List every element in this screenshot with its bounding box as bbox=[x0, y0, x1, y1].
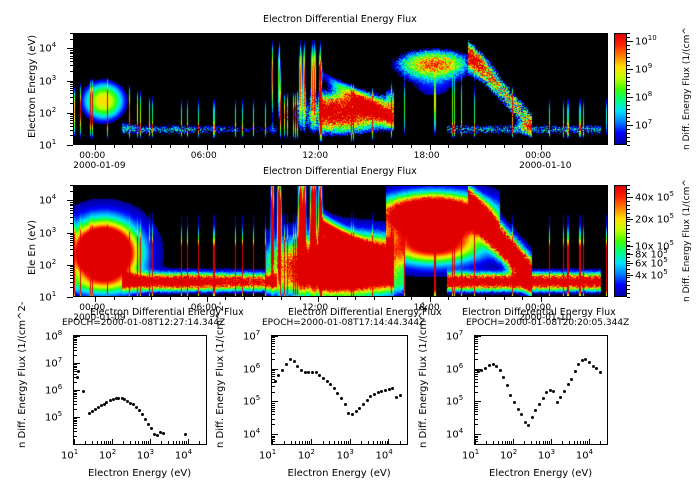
spectrum-ylabel: n Diff. Energy Flux (1/(cm^2- bbox=[419, 301, 429, 448]
xtick-major bbox=[112, 439, 113, 445]
ytick-minor bbox=[272, 341, 275, 342]
xtick-label: 00:00 bbox=[525, 152, 551, 161]
data-point bbox=[355, 410, 358, 413]
colorbar-tick-minor bbox=[627, 249, 630, 250]
spectrum-epoch: EPOCH=2000-01-08T12:27:14.344Z bbox=[62, 319, 225, 328]
ytick-minor bbox=[70, 185, 73, 186]
ytick-minor bbox=[475, 409, 478, 410]
ytick-minor bbox=[70, 278, 73, 279]
xtick-major bbox=[150, 439, 151, 445]
ytick-minor bbox=[272, 372, 275, 373]
xtick-major bbox=[513, 439, 514, 445]
data-point bbox=[285, 363, 288, 366]
colorbar-tick-label: 109 bbox=[635, 63, 652, 75]
data-point bbox=[599, 371, 602, 374]
xtick-minor bbox=[411, 297, 412, 300]
colorbar-tick-minor bbox=[627, 269, 630, 270]
colorbar-tick-label: 40x 105 bbox=[635, 191, 674, 203]
ytick-minor bbox=[70, 223, 73, 224]
data-point bbox=[484, 367, 487, 370]
ytick-minor bbox=[475, 414, 478, 415]
ytick-minor bbox=[70, 202, 73, 203]
panel-top-spectrogram[interactable] bbox=[73, 33, 608, 145]
colorbar-tick-minor bbox=[627, 273, 630, 274]
data-point bbox=[577, 363, 580, 366]
xaxis-date-right: 2000-01-10 bbox=[519, 162, 571, 171]
ytick-minor bbox=[74, 364, 77, 365]
data-point bbox=[318, 374, 321, 377]
ytick-label: 102 bbox=[39, 259, 56, 271]
colorbar-tick-minor bbox=[627, 53, 630, 54]
data-point bbox=[534, 409, 537, 412]
spectrum-2-plot[interactable] bbox=[271, 335, 408, 445]
panel-middle-title: Electron Differential Energy Flux bbox=[263, 167, 417, 177]
panel-middle-spectrogram[interactable] bbox=[73, 185, 608, 297]
colorbar-tick-minor bbox=[627, 189, 630, 190]
colorbar-tick-minor bbox=[627, 281, 630, 282]
xtick-minor bbox=[97, 441, 98, 445]
ytick-minor bbox=[74, 374, 77, 375]
xtick-minor bbox=[583, 441, 584, 445]
ytick-label: 104 bbox=[39, 194, 56, 206]
panel-middle-colorbar-label: n Diff. Energy Flux (1/(cm^ bbox=[683, 179, 692, 302]
xtick-minor bbox=[281, 297, 282, 300]
colorbar-tick-minor bbox=[627, 65, 630, 66]
ytick-minor bbox=[70, 58, 73, 59]
xtick-label: 104 bbox=[175, 449, 192, 461]
ytick-label: 106 bbox=[446, 363, 463, 375]
ytick-minor bbox=[70, 123, 73, 124]
ytick-minor bbox=[272, 411, 275, 412]
xtick-minor bbox=[291, 441, 292, 445]
xtick-minor bbox=[338, 441, 339, 445]
ytick-minor bbox=[475, 379, 478, 380]
spectrum-xlabel: Electron Energy (eV) bbox=[288, 469, 391, 479]
ytick-label: 101 bbox=[39, 291, 56, 303]
ytick-minor bbox=[70, 282, 73, 283]
ytick-minor bbox=[70, 71, 73, 72]
spectrum-epoch: EPOCH=2000-01-08T20:20:05.344Z bbox=[466, 319, 629, 328]
colorbar-tick-minor bbox=[627, 221, 630, 222]
ytick-minor bbox=[70, 210, 73, 211]
ytick-minor bbox=[70, 130, 73, 131]
ytick-minor bbox=[74, 398, 77, 399]
colorbar-tick-minor bbox=[627, 225, 630, 226]
ytick-label: 103 bbox=[39, 227, 56, 239]
xtick-minor bbox=[262, 297, 263, 300]
xtick-minor bbox=[585, 441, 586, 445]
ytick-minor bbox=[74, 340, 77, 341]
ytick-label: 101 bbox=[39, 139, 56, 151]
xtick-major bbox=[272, 439, 273, 445]
data-point bbox=[380, 390, 383, 393]
xtick-minor bbox=[448, 145, 449, 148]
data-point bbox=[556, 401, 559, 404]
data-point bbox=[499, 369, 502, 372]
spectrum-1-plot[interactable] bbox=[73, 335, 207, 445]
data-point bbox=[527, 424, 530, 427]
xtick-minor bbox=[262, 145, 263, 148]
xtick-minor bbox=[179, 441, 180, 445]
panel-middle-ylabel: Ele En (eV) bbox=[28, 220, 38, 275]
xtick-minor bbox=[114, 145, 115, 148]
ytick-minor bbox=[272, 405, 275, 406]
data-point bbox=[399, 394, 402, 397]
ytick-minor bbox=[70, 126, 73, 127]
ytick-minor bbox=[475, 376, 478, 377]
data-point bbox=[311, 371, 314, 374]
colorbar-tick-minor bbox=[627, 117, 630, 118]
colorbar-tick bbox=[627, 263, 633, 264]
ytick-minor bbox=[272, 424, 275, 425]
data-point bbox=[358, 407, 361, 410]
ytick-minor bbox=[475, 424, 478, 425]
data-point bbox=[296, 365, 299, 368]
xtick-minor bbox=[186, 441, 187, 445]
xtick-minor bbox=[148, 441, 149, 445]
xtick-label: 103 bbox=[337, 449, 354, 461]
colorbar-tick-minor bbox=[627, 185, 630, 186]
xtick-minor bbox=[355, 297, 356, 300]
colorbar-tick-minor bbox=[627, 137, 630, 138]
xtick-minor bbox=[300, 145, 301, 148]
ytick-minor bbox=[475, 337, 478, 338]
xtick-minor bbox=[536, 441, 537, 445]
ytick-label: 104 bbox=[243, 428, 260, 440]
data-point bbox=[336, 392, 339, 395]
data-point bbox=[105, 401, 108, 404]
ytick-minor bbox=[70, 118, 73, 119]
ytick-minor bbox=[70, 266, 73, 267]
xtick-minor bbox=[323, 441, 324, 445]
colorbar-tick-minor bbox=[627, 277, 630, 278]
xtick-minor bbox=[135, 441, 136, 445]
colorbar-tick-minor bbox=[627, 97, 630, 98]
ytick-minor bbox=[272, 353, 275, 354]
xtick-minor bbox=[161, 441, 162, 445]
xtick-major bbox=[188, 439, 189, 445]
ytick-minor bbox=[70, 135, 73, 136]
data-point bbox=[91, 410, 94, 413]
colorbar-tick-minor bbox=[627, 241, 630, 242]
data-point bbox=[542, 397, 545, 400]
data-point bbox=[329, 383, 332, 386]
data-point bbox=[94, 408, 97, 411]
xtick-major bbox=[74, 439, 75, 445]
ytick-minor bbox=[74, 393, 77, 394]
ytick-major bbox=[67, 297, 73, 298]
xtick-minor bbox=[373, 441, 374, 445]
xtick-minor bbox=[305, 441, 306, 445]
data-point bbox=[135, 406, 138, 409]
colorbar-tick-minor bbox=[627, 113, 630, 114]
xtick-minor bbox=[132, 145, 133, 148]
xtick-minor bbox=[307, 441, 308, 445]
xtick-minor bbox=[502, 441, 503, 445]
xtick-minor bbox=[225, 297, 226, 300]
xtick-minor bbox=[607, 441, 608, 445]
data-point bbox=[362, 403, 365, 406]
colorbar-tick-minor bbox=[627, 145, 630, 146]
colorbar-tick-label: 108 bbox=[635, 91, 652, 103]
ytick-minor bbox=[475, 339, 478, 340]
xtick-minor bbox=[108, 441, 109, 445]
ytick-minor bbox=[74, 420, 77, 421]
xtick-minor bbox=[344, 441, 345, 445]
xtick-minor bbox=[562, 441, 563, 445]
spectrum-title: Electron Differential Energy Flux bbox=[462, 308, 616, 318]
xtick-minor bbox=[509, 441, 510, 445]
ytick-minor bbox=[475, 407, 478, 408]
data-point bbox=[138, 409, 141, 412]
xtick-minor bbox=[448, 297, 449, 300]
xtick-minor bbox=[168, 441, 169, 445]
xtick-minor bbox=[123, 441, 124, 445]
colorbar-tick-minor bbox=[627, 93, 630, 94]
spectrum-xlabel: Electron Energy (eV) bbox=[88, 469, 191, 479]
xtick-minor bbox=[151, 297, 152, 300]
data-point bbox=[549, 389, 552, 392]
xtick-minor bbox=[144, 441, 145, 445]
xtick-minor bbox=[337, 297, 338, 300]
ytick-minor bbox=[70, 61, 73, 62]
panel-top-colorbar-label: n Diff. Energy Flux (1/(cm^ bbox=[683, 27, 692, 150]
xtick-minor bbox=[531, 441, 532, 445]
ytick-minor bbox=[272, 407, 275, 408]
data-point bbox=[570, 378, 573, 381]
data-point bbox=[88, 412, 91, 415]
data-point bbox=[307, 371, 310, 374]
xtick-minor bbox=[207, 145, 208, 148]
colorbar-tick-minor bbox=[627, 265, 630, 266]
ytick-minor bbox=[272, 343, 275, 344]
xtick-minor bbox=[281, 145, 282, 148]
ytick-minor bbox=[70, 272, 73, 273]
ytick-minor bbox=[70, 56, 73, 57]
colorbar-tick-minor bbox=[627, 121, 630, 122]
data-point bbox=[281, 369, 284, 372]
data-point bbox=[369, 395, 372, 398]
xtick-minor bbox=[387, 441, 388, 445]
ytick-minor bbox=[74, 391, 77, 392]
xtick-minor bbox=[493, 441, 494, 445]
data-point bbox=[144, 418, 147, 421]
xtick-minor bbox=[430, 145, 431, 148]
xtick-minor bbox=[382, 441, 383, 445]
ytick-minor bbox=[475, 349, 478, 350]
data-point bbox=[567, 383, 570, 386]
xtick-major bbox=[551, 439, 552, 445]
xtick-minor bbox=[407, 441, 408, 445]
ytick-minor bbox=[272, 339, 275, 340]
ytick-minor bbox=[272, 386, 275, 387]
xtick-minor bbox=[146, 441, 147, 445]
data-point bbox=[289, 358, 292, 361]
xtick-minor bbox=[188, 297, 189, 300]
xtick-minor bbox=[374, 297, 375, 300]
ytick-minor bbox=[74, 421, 77, 422]
xtick-minor bbox=[361, 441, 362, 445]
ytick-minor bbox=[70, 217, 73, 218]
xtick-minor bbox=[142, 441, 143, 445]
xtick-minor bbox=[130, 441, 131, 445]
xtick-minor bbox=[284, 441, 285, 445]
ytick-minor bbox=[74, 366, 77, 367]
colorbar-tick-minor bbox=[627, 41, 630, 42]
colorbar-tick-minor bbox=[627, 229, 630, 230]
ytick-minor bbox=[74, 428, 77, 429]
colorbar-tick-minor bbox=[627, 297, 630, 298]
ytick-minor bbox=[475, 419, 478, 420]
colorbar-tick-minor bbox=[627, 209, 630, 210]
xtick-minor bbox=[467, 297, 468, 300]
ytick-minor bbox=[70, 236, 73, 237]
ytick-minor bbox=[70, 191, 73, 192]
xtick-label: 18:00 bbox=[414, 152, 440, 161]
ytick-minor bbox=[70, 116, 73, 117]
data-point bbox=[488, 364, 491, 367]
data-point bbox=[495, 365, 498, 368]
xtick-minor bbox=[600, 441, 601, 445]
xtick-label: 06:00 bbox=[191, 152, 217, 161]
colorbar-tick-minor bbox=[627, 101, 630, 102]
xtick-label: 102 bbox=[500, 449, 517, 461]
xtick-minor bbox=[151, 145, 152, 148]
xtick-minor bbox=[95, 297, 96, 300]
ytick-minor bbox=[272, 349, 275, 350]
ytick-minor bbox=[475, 372, 478, 373]
ytick-minor bbox=[74, 436, 77, 437]
ytick-minor bbox=[272, 379, 275, 380]
xtick-minor bbox=[302, 441, 303, 445]
spectrum-3-plot[interactable] bbox=[474, 335, 608, 445]
data-point bbox=[509, 394, 512, 397]
ytick-minor bbox=[70, 245, 73, 246]
xtick-minor bbox=[206, 441, 207, 445]
colorbar-tick-minor bbox=[627, 105, 630, 106]
ytick-minor bbox=[74, 404, 77, 405]
ytick-minor bbox=[70, 287, 73, 288]
ytick-label: 105 bbox=[45, 411, 62, 423]
ytick-label: 102 bbox=[39, 107, 56, 119]
xtick-minor bbox=[170, 145, 171, 148]
colorbar-tick-minor bbox=[627, 69, 630, 70]
ytick-minor bbox=[74, 394, 77, 395]
ytick-minor bbox=[475, 392, 478, 393]
xtick-minor bbox=[392, 145, 393, 148]
ytick-label: 106 bbox=[243, 363, 260, 375]
ytick-minor bbox=[74, 401, 77, 402]
xtick-minor bbox=[587, 441, 588, 445]
ytick-minor bbox=[70, 208, 73, 209]
ytick-minor bbox=[70, 240, 73, 241]
colorbar-tick bbox=[627, 254, 633, 255]
ytick-label: 106 bbox=[45, 384, 62, 396]
data-point bbox=[595, 367, 598, 370]
panel-top-colorbar bbox=[614, 33, 627, 145]
ytick-minor bbox=[70, 88, 73, 89]
ytick-minor bbox=[475, 405, 478, 406]
ytick-minor bbox=[70, 52, 73, 53]
colorbar-tick-minor bbox=[627, 89, 630, 90]
xtick-minor bbox=[95, 145, 96, 148]
ytick-minor bbox=[74, 377, 77, 378]
xtick-label: 00:00 bbox=[79, 152, 105, 161]
ytick-minor bbox=[70, 103, 73, 104]
xtick-minor bbox=[85, 441, 86, 445]
ytick-minor bbox=[70, 93, 73, 94]
data-point bbox=[559, 396, 562, 399]
colorbar-tick-minor bbox=[627, 81, 630, 82]
xtick-minor bbox=[348, 441, 349, 445]
xtick-label: 102 bbox=[298, 449, 315, 461]
xtick-minor bbox=[299, 441, 300, 445]
xtick-minor bbox=[524, 441, 525, 445]
data-point bbox=[391, 387, 394, 390]
colorbar-tick-minor bbox=[627, 257, 630, 258]
colorbar-tick-label: 1010 bbox=[635, 35, 657, 47]
ytick-minor bbox=[475, 359, 478, 360]
xtick-minor bbox=[188, 145, 189, 148]
colorbar-tick-minor bbox=[627, 77, 630, 78]
data-point bbox=[513, 401, 516, 404]
colorbar-tick-minor bbox=[627, 57, 630, 58]
ytick-minor bbox=[74, 350, 77, 351]
xtick-minor bbox=[170, 297, 171, 300]
ytick-minor bbox=[70, 120, 73, 121]
ytick-minor bbox=[475, 353, 478, 354]
data-point bbox=[502, 376, 505, 379]
data-point bbox=[584, 358, 587, 361]
colorbar-tick-minor bbox=[627, 233, 630, 234]
xtick-minor bbox=[411, 145, 412, 148]
ytick-minor bbox=[74, 409, 77, 410]
ytick-minor bbox=[70, 255, 73, 256]
xtick-minor bbox=[106, 441, 107, 445]
data-point bbox=[524, 421, 527, 424]
ytick-minor bbox=[74, 342, 77, 343]
spectrum-ylabel: n Diff. Energy Flux (1/(cm^2- bbox=[216, 301, 226, 448]
xtick-minor bbox=[511, 441, 512, 445]
xtick-major bbox=[388, 439, 389, 445]
xtick-minor bbox=[574, 441, 575, 445]
data-point bbox=[326, 380, 329, 383]
xtick-label: 103 bbox=[137, 449, 154, 461]
xtick-minor bbox=[244, 297, 245, 300]
ytick-label: 104 bbox=[446, 428, 463, 440]
xtick-minor bbox=[341, 441, 342, 445]
data-point bbox=[545, 391, 548, 394]
data-point bbox=[517, 408, 520, 411]
xtick-minor bbox=[430, 297, 431, 300]
xtick-major bbox=[350, 439, 351, 445]
colorbar-tick-minor bbox=[627, 285, 630, 286]
ytick-minor bbox=[475, 411, 478, 412]
xtick-minor bbox=[543, 441, 544, 445]
xtick-minor bbox=[569, 441, 570, 445]
panel-top-title: Electron Differential Energy Flux bbox=[263, 15, 417, 25]
colorbar-tick-minor bbox=[627, 133, 630, 134]
xtick-minor bbox=[318, 145, 319, 148]
ytick-minor bbox=[475, 370, 478, 371]
ytick-minor bbox=[272, 392, 275, 393]
ytick-minor bbox=[272, 337, 275, 338]
xtick-minor bbox=[485, 297, 486, 300]
topbox-canvas bbox=[74, 34, 607, 144]
xtick-minor bbox=[539, 441, 540, 445]
colorbar-tick-minor bbox=[627, 253, 630, 254]
ytick-minor bbox=[70, 53, 73, 54]
